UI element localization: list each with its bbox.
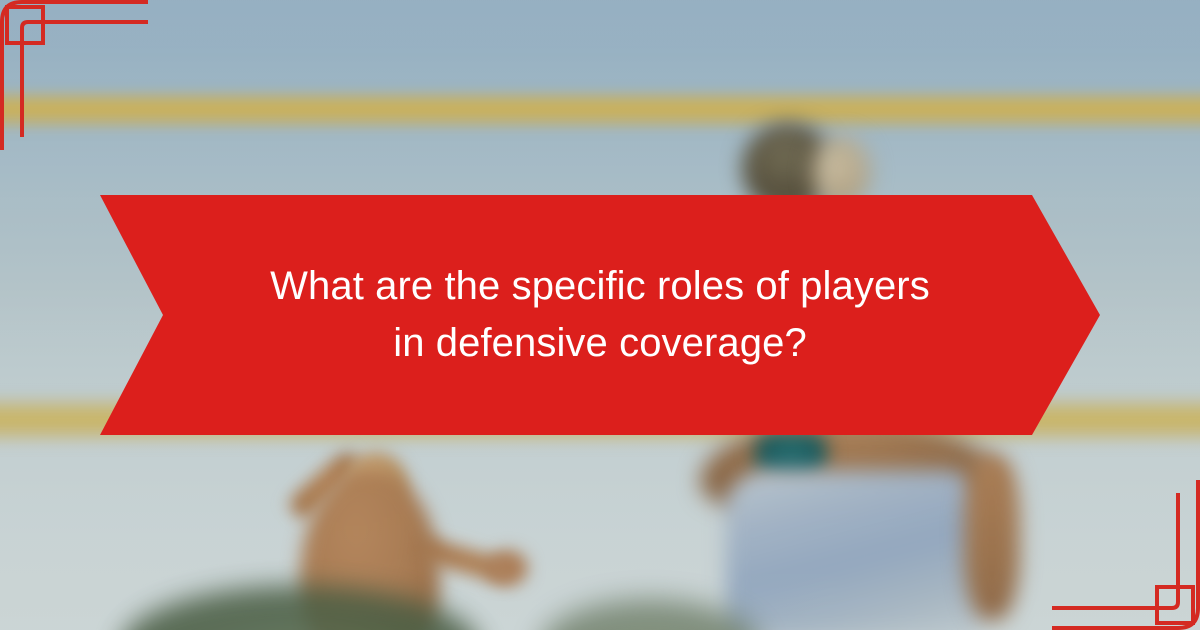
player-right-shirt: [726, 470, 984, 630]
question-banner: What are the specific roles of players i…: [100, 195, 1100, 435]
player-left-hand: [488, 550, 528, 586]
player-right-arm: [964, 455, 1020, 620]
net-band-upper: [0, 88, 1200, 132]
poster-canvas: What are the specific roles of players i…: [0, 0, 1200, 630]
question-text: What are the specific roles of players i…: [250, 258, 950, 372]
